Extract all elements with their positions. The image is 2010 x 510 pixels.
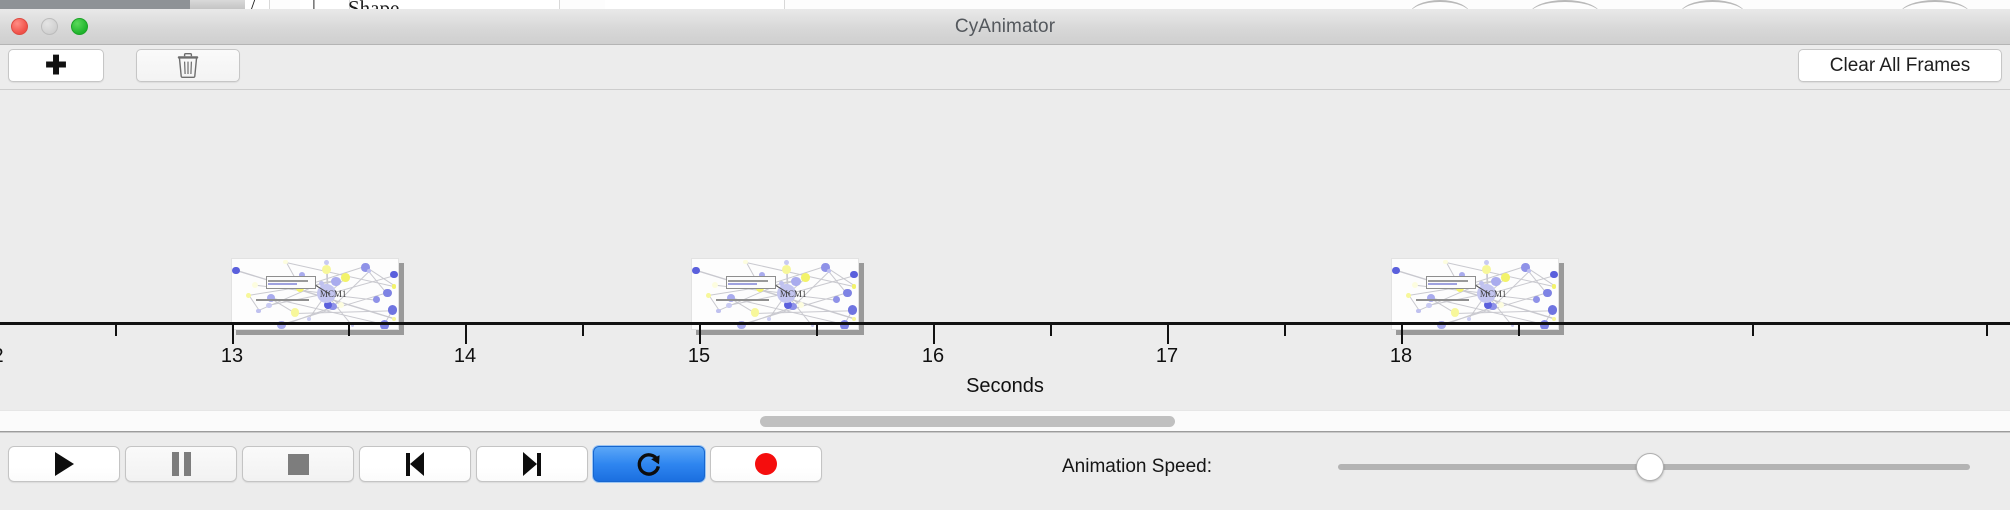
network-graph-preview: MCM1: [691, 258, 859, 330]
axis-tick-minor: [1050, 325, 1052, 336]
axis-tick-major: [1167, 325, 1169, 344]
timeline-horizontal-scrollbar[interactable]: [0, 410, 2010, 432]
axis-tick-label: 18: [1390, 345, 1412, 368]
graph-node: [1533, 296, 1540, 303]
graph-node: [791, 277, 800, 286]
graph-node: [751, 308, 760, 317]
graph-node: [1498, 302, 1504, 308]
delete-frame-button[interactable]: [136, 49, 240, 82]
graph-node: [712, 282, 718, 288]
clear-all-frames-button[interactable]: Clear All Frames: [1798, 49, 2002, 82]
graph-node: [1543, 289, 1552, 298]
tooltip-text-line: [728, 280, 768, 282]
scrollbar-thumb[interactable]: [760, 416, 1175, 427]
axis-tick-minor: [816, 325, 818, 336]
graph-node: [341, 273, 350, 282]
skip-forward-icon: [523, 452, 541, 476]
axis-tick-minor: [1986, 325, 1988, 336]
graph-node: [852, 317, 857, 322]
graph-node: [1451, 308, 1460, 317]
graph-node: [1548, 305, 1557, 314]
cyanimator-window: CyAnimator ✚ Clear All Frames MCM1MCM1MC…: [0, 9, 2010, 510]
axis-tick-major: [933, 325, 935, 344]
graph-node: [1501, 273, 1510, 282]
tooltip-text-line: [268, 283, 297, 285]
graph-node: [246, 293, 251, 298]
graph-node: [767, 317, 771, 321]
add-frame-button[interactable]: ✚: [8, 49, 104, 82]
trash-icon: [177, 53, 199, 78]
axis-tick-minor: [1284, 325, 1286, 336]
graph-node: [1412, 282, 1418, 288]
graph-node: [266, 303, 271, 308]
network-graph-preview: MCM1: [1391, 258, 1559, 330]
graph-node: [252, 282, 258, 288]
timeline-axis-line: [0, 322, 2010, 325]
tooltip-text-line: [268, 280, 308, 282]
graph-node: [338, 302, 344, 308]
stop-button[interactable]: [242, 446, 354, 482]
axis-tick-major: [699, 325, 701, 344]
timeline-frame-thumbnail[interactable]: MCM1: [231, 258, 399, 330]
network-graph-preview: MCM1: [231, 258, 399, 330]
window-title: CyAnimator: [0, 16, 2010, 38]
tooltip-text-line: [1428, 280, 1468, 282]
timeline-frame-thumbnail[interactable]: MCM1: [691, 258, 859, 330]
graph-node: [1482, 265, 1491, 274]
graph-node: [1550, 271, 1557, 278]
graph-node: [801, 273, 810, 282]
pause-button[interactable]: [125, 446, 237, 482]
skip-back-icon: [406, 452, 424, 476]
skip-to-start-button[interactable]: [359, 446, 471, 482]
loop-button[interactable]: [593, 446, 705, 482]
graph-node: [1467, 317, 1471, 321]
graph-node: [850, 271, 857, 278]
axis-tick-minor: [1518, 325, 1520, 336]
graph-node: [373, 296, 380, 303]
graph-node: [782, 265, 791, 274]
record-button[interactable]: [710, 446, 822, 482]
axis-tick-major: [1401, 325, 1403, 344]
axis-tick-label: 15: [688, 345, 710, 368]
slider-thumb[interactable]: [1636, 453, 1664, 481]
animation-speed-label: Animation Speed:: [1062, 456, 1212, 478]
axis-tick-label: 17: [1156, 345, 1178, 368]
transport-control-bar: Animation Speed:: [0, 432, 2010, 498]
axis-tick-label: 14: [454, 345, 476, 368]
graph-node: [307, 317, 311, 321]
timeline-frame-thumbnail[interactable]: MCM1: [1391, 258, 1559, 330]
frame-toolbar: ✚ Clear All Frames: [0, 45, 2010, 90]
plus-icon: ✚: [45, 52, 67, 78]
graph-node: [1406, 293, 1411, 298]
graph-node: [232, 267, 239, 274]
graph-node: [692, 267, 699, 274]
graph-node: [726, 303, 731, 308]
graph-node: [833, 296, 840, 303]
graph-caption-line: [256, 299, 310, 301]
tooltip-text-line: [728, 283, 757, 285]
axis-tick-label: 13: [221, 345, 243, 368]
play-icon: [55, 452, 74, 476]
graph-node: [1426, 303, 1431, 308]
axis-tick-minor: [582, 325, 584, 336]
animation-speed-slider[interactable]: [1338, 464, 1970, 470]
graph-node: [331, 277, 340, 286]
graph-node: [843, 289, 852, 298]
axis-tick-label: 16: [922, 345, 944, 368]
play-button[interactable]: [8, 446, 120, 482]
graph-node: [390, 271, 397, 278]
graph-node: [706, 293, 711, 298]
graph-node: [392, 284, 397, 289]
window-title-bar: CyAnimator: [0, 9, 2010, 45]
axis-tick-label: 2: [0, 345, 4, 368]
graph-node: [291, 308, 300, 317]
graph-node: [716, 309, 721, 314]
graph-caption-line: [1416, 299, 1470, 301]
axis-tick-major: [232, 325, 234, 344]
tooltip-text-line: [1428, 283, 1457, 285]
record-icon: [755, 453, 777, 475]
graph-node: [1552, 317, 1557, 322]
loop-icon: [636, 451, 662, 478]
stop-icon: [288, 454, 309, 475]
axis-tick-minor: [1752, 325, 1754, 336]
graph-node: [848, 305, 857, 314]
graph-node: [1392, 267, 1399, 274]
axis-tick-minor: [348, 325, 350, 336]
graph-node: [322, 265, 331, 274]
graph-node: [1491, 277, 1500, 286]
graph-node: [392, 317, 397, 322]
graph-node: [798, 302, 804, 308]
skip-to-end-button[interactable]: [476, 446, 588, 482]
timeline-panel[interactable]: MCM1MCM1MCM1 2131415161718 Seconds: [0, 90, 2010, 410]
graph-node: [383, 289, 392, 298]
timeline-axis-title: Seconds: [0, 375, 2010, 398]
graph-node: [388, 305, 397, 314]
graph-node: [256, 309, 261, 314]
graph-node: [1552, 284, 1557, 289]
graph-caption-line: [716, 299, 770, 301]
pause-icon: [172, 452, 191, 476]
graph-node: [1416, 309, 1421, 314]
axis-tick-minor: [115, 325, 117, 336]
axis-tick-major: [465, 325, 467, 344]
graph-node: [852, 284, 857, 289]
